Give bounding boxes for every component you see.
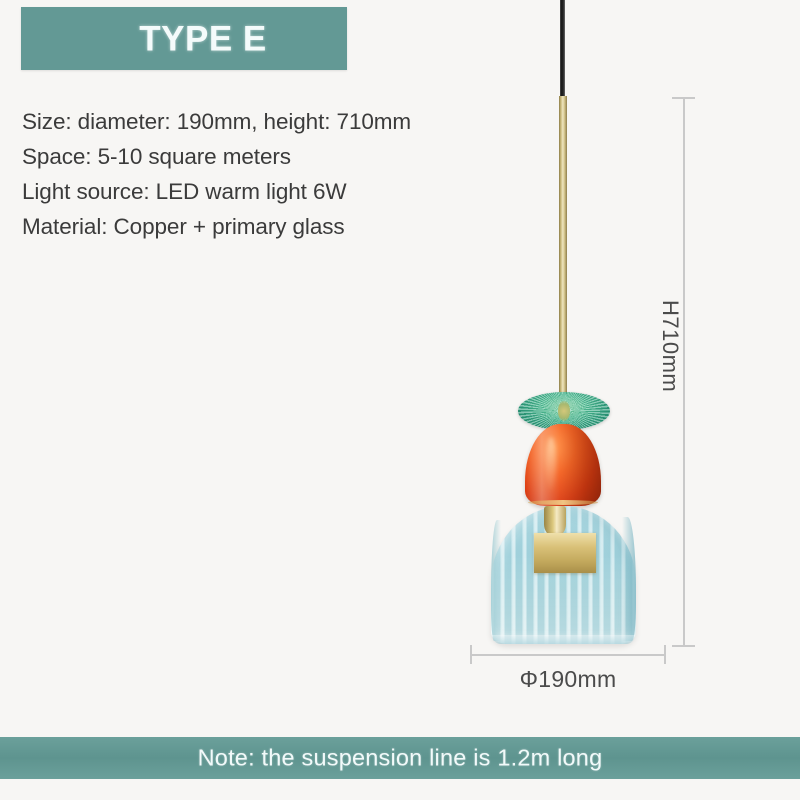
shade-bottom-rim bbox=[492, 635, 635, 644]
cone-highlight bbox=[546, 437, 556, 491]
type-badge-label: TYPE E bbox=[21, 21, 325, 56]
spec-list: Size: diameter: 190mm, height: 710mm Spa… bbox=[22, 104, 582, 244]
width-dimension-cap-right bbox=[664, 645, 666, 664]
product-spec-image: TYPE E Size: diameter: 190mm, height: 71… bbox=[0, 0, 800, 800]
type-badge: TYPE E bbox=[21, 7, 347, 70]
green-fluted-disc bbox=[518, 392, 610, 430]
orange-glass-cone bbox=[525, 424, 601, 506]
width-dimension-label: Φ190mm bbox=[470, 666, 666, 693]
width-dimension-line bbox=[471, 654, 665, 656]
disc-center-highlight bbox=[558, 401, 569, 421]
spec-line-light-source: Light source: LED warm light 6W bbox=[22, 174, 582, 209]
bulb-glow bbox=[520, 520, 612, 592]
height-dimension-line bbox=[683, 98, 685, 646]
suspension-cord bbox=[560, 0, 565, 99]
height-dimension-label: H710mm bbox=[657, 300, 683, 392]
brass-bulb-plate bbox=[534, 533, 596, 573]
shade-right-edge bbox=[622, 517, 636, 641]
spec-line-material: Material: Copper + primary glass bbox=[22, 209, 582, 244]
blue-glass-shade bbox=[491, 506, 636, 644]
spec-line-space: Space: 5-10 square meters bbox=[22, 139, 582, 174]
note-bar-label: Note: the suspension line is 1.2m long bbox=[0, 745, 800, 772]
spec-line-size: Size: diameter: 190mm, height: 710mm bbox=[22, 104, 582, 139]
brass-socket bbox=[544, 506, 566, 536]
height-dimension-cap-bottom bbox=[672, 645, 695, 647]
height-dimension-cap-top bbox=[672, 97, 695, 99]
cone-brass-rim bbox=[528, 500, 598, 505]
shade-left-edge bbox=[491, 520, 501, 641]
width-dimension-cap-left bbox=[470, 645, 472, 664]
note-bar: Note: the suspension line is 1.2m long bbox=[0, 737, 800, 779]
